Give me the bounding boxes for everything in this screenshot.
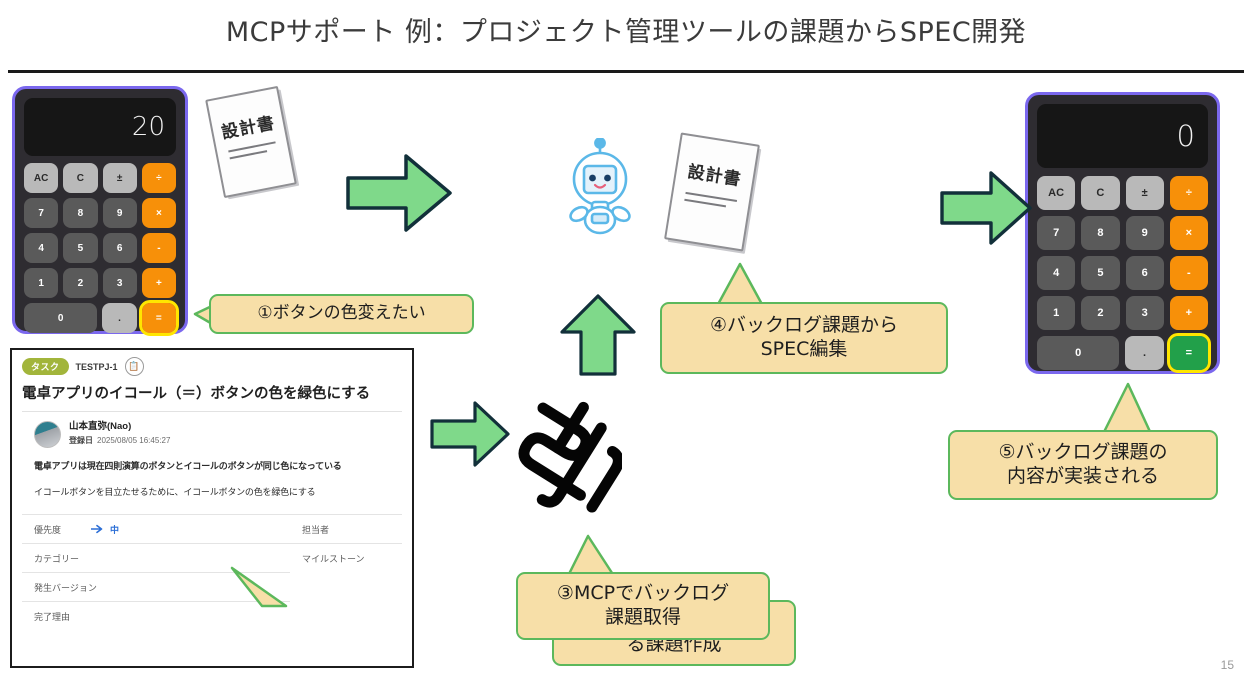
- arrow-up-icon: [558, 292, 638, 378]
- callout-2-tail: [228, 566, 288, 610]
- key-0[interactable]: 0: [24, 303, 97, 333]
- field-label: 優先度: [34, 523, 61, 536]
- key-0[interactable]: 0: [1037, 336, 1119, 370]
- calculator-before: 20 AC C ± ÷ 7 8 9 × 4 5 6 - 1 2 3 + 0 .: [12, 86, 188, 334]
- key-ac[interactable]: AC: [1037, 176, 1075, 210]
- clipboard-icon[interactable]: 📋: [125, 357, 144, 376]
- page-title: MCPサポート 例：プロジェクト管理ツールの課題からSPEC開発: [0, 10, 1252, 49]
- keypad-row: AC C ± ÷: [24, 163, 176, 193]
- issue-title: 電卓アプリのイコール（＝）ボタンの色を緑色にする: [12, 376, 412, 411]
- calculator-before-display: 20: [24, 98, 176, 156]
- key-5[interactable]: 5: [1081, 256, 1119, 290]
- key-7[interactable]: 7: [1037, 216, 1075, 250]
- key-divide[interactable]: ÷: [1170, 176, 1208, 210]
- key-multiply[interactable]: ×: [1170, 216, 1208, 250]
- issue-body: 山本直弥(Nao) 登録日2025/08/05 16:45:27 電卓アプリは現…: [22, 411, 402, 498]
- registered-date-value: 2025/08/05 16:45:27: [97, 436, 170, 445]
- key-divide[interactable]: ÷: [142, 163, 176, 193]
- key-6[interactable]: 6: [1126, 256, 1164, 290]
- registered-date: 登録日2025/08/05 16:45:27: [69, 435, 170, 446]
- issue-key[interactable]: TESTPJ-1: [76, 362, 118, 372]
- calculator-after-keypad: AC C ± ÷ 7 8 9 × 4 5 6 - 1 2 3 + 0 . =: [1037, 176, 1208, 370]
- field-label: 担当者: [302, 523, 329, 536]
- keypad-row: 0 . =: [24, 303, 176, 333]
- keypad-row: 4 5 6 -: [24, 233, 176, 263]
- ai-robot-icon: [565, 138, 635, 238]
- key-3[interactable]: 3: [1126, 296, 1164, 330]
- key-8[interactable]: 8: [63, 198, 97, 228]
- key-6[interactable]: 6: [103, 233, 137, 263]
- spec-document-title: 設計書: [675, 155, 754, 192]
- field-label: カテゴリー: [34, 552, 79, 565]
- key-c[interactable]: C: [1081, 176, 1119, 210]
- field-value-text: 中: [110, 523, 119, 536]
- key-7[interactable]: 7: [24, 198, 58, 228]
- key-multiply[interactable]: ×: [142, 198, 176, 228]
- document-lines: [684, 192, 737, 214]
- calculator-before-keypad: AC C ± ÷ 7 8 9 × 4 5 6 - 1 2 3 + 0 . =: [24, 163, 176, 333]
- document-lines: [228, 141, 277, 164]
- callout-1-line1: ①ボタンの色変えたい: [257, 303, 425, 324]
- claude-logo-icon: [512, 395, 622, 530]
- field-priority[interactable]: 優先度 中: [22, 514, 290, 543]
- field-assignee[interactable]: 担当者: [290, 514, 402, 543]
- key-plus[interactable]: +: [1170, 296, 1208, 330]
- callout-1: ①ボタンの色変えたい: [209, 294, 474, 334]
- callout-4: ④バックログ課題から SPEC編集: [660, 302, 948, 374]
- spec-document-icon: 設計書: [205, 86, 297, 198]
- spec-document-title: 設計書: [211, 107, 284, 145]
- avatar: [34, 421, 61, 448]
- arrow-right-icon: [428, 398, 512, 470]
- field-label: 完了理由: [34, 610, 70, 623]
- field-label: 発生バージョン: [34, 581, 97, 594]
- issue-fields: 優先度 中 カテゴリー 発生バージョン 完了理由 担当者 マイルストーン: [22, 514, 402, 630]
- title-divider: [8, 70, 1244, 73]
- callout-4-line1: ④バックログ課題から: [710, 314, 898, 338]
- issue-fields-right: 担当者 マイルストーン: [290, 514, 402, 630]
- key-9[interactable]: 9: [103, 198, 137, 228]
- field-label: マイルストーン: [302, 552, 365, 565]
- key-plusminus[interactable]: ±: [1126, 176, 1164, 210]
- field-value: 中: [91, 523, 119, 536]
- key-2[interactable]: 2: [1081, 296, 1119, 330]
- page-number: 15: [1221, 658, 1234, 672]
- key-9[interactable]: 9: [1126, 216, 1164, 250]
- key-5[interactable]: 5: [63, 233, 97, 263]
- key-c[interactable]: C: [63, 163, 97, 193]
- priority-arrow-icon: [91, 524, 104, 534]
- key-plusminus[interactable]: ±: [103, 163, 137, 193]
- issue-description-line-2: イコールボタンを目立たせるために、イコールボタンの色を緑色にする: [22, 485, 402, 498]
- keypad-row: AC C ± ÷: [1037, 176, 1208, 210]
- key-ac[interactable]: AC: [24, 163, 58, 193]
- arrow-right-icon: [344, 150, 454, 236]
- key-equals[interactable]: =: [1170, 336, 1208, 370]
- keypad-row: 1 2 3 +: [24, 268, 176, 298]
- issue-author-row: 山本直弥(Nao) 登録日2025/08/05 16:45:27: [22, 421, 402, 448]
- keypad-row: 0 . =: [1037, 336, 1208, 370]
- callout-5-line2: 内容が実装される: [998, 465, 1167, 489]
- keypad-row: 7 8 9 ×: [1037, 216, 1208, 250]
- keypad-row: 4 5 6 -: [1037, 256, 1208, 290]
- key-4[interactable]: 4: [1037, 256, 1075, 290]
- callout-5-line1: ⑤バックログ課題の: [998, 441, 1167, 465]
- backlog-issue-card: タスク TESTPJ-1 📋 電卓アプリのイコール（＝）ボタンの色を緑色にする …: [10, 348, 414, 668]
- calculator-after-display: 0: [1037, 104, 1208, 168]
- issue-description-line-1: 電卓アプリは現在四則演算のボタンとイコールのボタンが同じ色になっている: [22, 459, 402, 472]
- callout-5: ⑤バックログ課題の 内容が実装される: [948, 430, 1218, 500]
- key-1[interactable]: 1: [24, 268, 58, 298]
- keypad-row: 7 8 9 ×: [24, 198, 176, 228]
- key-equals[interactable]: =: [142, 303, 176, 333]
- key-4[interactable]: 4: [24, 233, 58, 263]
- registered-date-label: 登録日: [69, 436, 93, 445]
- key-decimal[interactable]: .: [1125, 336, 1163, 370]
- key-minus[interactable]: -: [142, 233, 176, 263]
- arrow-right-icon: [938, 168, 1034, 248]
- spec-document-icon: 設計書: [664, 132, 760, 251]
- key-1[interactable]: 1: [1037, 296, 1075, 330]
- author-name: 山本直弥(Nao): [69, 421, 170, 433]
- key-8[interactable]: 8: [1081, 216, 1119, 250]
- issue-header: タスク TESTPJ-1 📋: [12, 350, 412, 376]
- callout-3: ③MCPでバックログ 課題取得: [516, 572, 770, 640]
- key-plus[interactable]: +: [142, 268, 176, 298]
- callout-3-line2: 課題取得: [557, 606, 729, 630]
- key-3[interactable]: 3: [103, 268, 137, 298]
- keypad-row: 1 2 3 +: [1037, 296, 1208, 330]
- calculator-after: 0 AC C ± ÷ 7 8 9 × 4 5 6 - 1 2 3 + 0 .: [1025, 92, 1220, 374]
- callout-3-line1: ③MCPでバックログ: [557, 582, 729, 606]
- callout-4-line2: SPEC編集: [710, 338, 898, 362]
- key-decimal[interactable]: .: [102, 303, 136, 333]
- key-2[interactable]: 2: [63, 268, 97, 298]
- issue-type-badge: タスク: [22, 358, 69, 375]
- key-minus[interactable]: -: [1170, 256, 1208, 290]
- field-milestone[interactable]: マイルストーン: [290, 543, 402, 572]
